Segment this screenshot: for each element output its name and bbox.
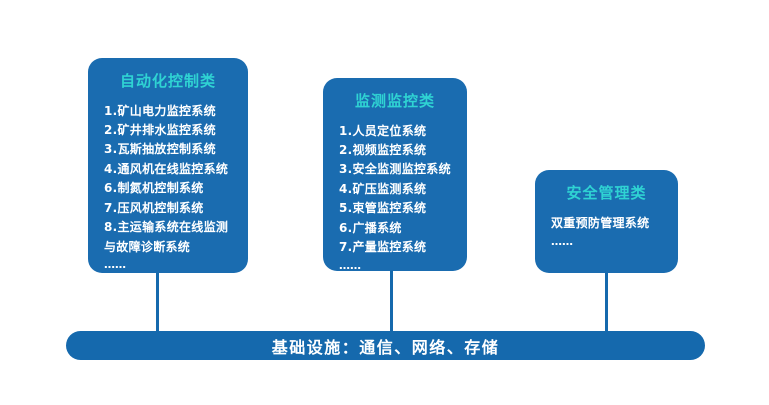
card-note-ellipsis: …… [551, 233, 662, 251]
card-safety-management[interactable]: 安全管理类 双重预防管理系统 …… [535, 170, 678, 273]
connector-line-automation [156, 271, 159, 333]
list-item: 5.束管监控系统 [339, 199, 451, 218]
card-list-monitoring-surveillance: 1.人员定位系统 2.视频监控系统 3.安全监测监控系统 4.矿压监测系统 5.… [339, 122, 451, 275]
list-item: 2.矿井排水监控系统 [104, 121, 232, 140]
list-item: 4.矿压监测系统 [339, 180, 451, 199]
list-item: 2.视频监控系统 [339, 141, 451, 160]
card-title-automation-control: 自动化控制类 [104, 72, 232, 92]
list-item: 7.压风机控制系统 [104, 199, 232, 218]
card-title-safety-management: 安全管理类 [551, 184, 662, 204]
list-item: 6.广播系统 [339, 219, 451, 238]
list-item: 6.制氮机控制系统 [104, 179, 232, 198]
card-monitoring-surveillance[interactable]: 监测监控类 1.人员定位系统 2.视频监控系统 3.安全监测监控系统 4.矿压监… [323, 78, 467, 271]
list-item: 3.安全监测监控系统 [339, 160, 451, 179]
card-list-automation-control: 1.矿山电力监控系统 2.矿井排水监控系统 3.瓦斯抽放控制系统 4.通风机在线… [104, 102, 232, 274]
list-item: 1.矿山电力监控系统 [104, 102, 232, 121]
list-item-ellipsis: …… [339, 258, 451, 275]
list-item: 1.人员定位系统 [339, 122, 451, 141]
card-title-monitoring-surveillance: 监测监控类 [339, 92, 451, 112]
infrastructure-label: 基础设施：通信、网络、存储 [272, 334, 500, 358]
system-architecture-diagram: 自动化控制类 1.矿山电力监控系统 2.矿井排水监控系统 3.瓦斯抽放控制系统 … [0, 0, 769, 405]
list-item-ellipsis: …… [104, 257, 232, 274]
list-item: 7.产量监控系统 [339, 238, 451, 257]
list-item: 3.瓦斯抽放控制系统 [104, 140, 232, 159]
card-note-safety-management: 双重预防管理系统 [551, 214, 662, 233]
connector-line-monitoring [390, 269, 393, 333]
list-item: 4.通风机在线监控系统 [104, 160, 232, 179]
list-item: 与故障诊断系统 [104, 238, 232, 257]
card-automation-control[interactable]: 自动化控制类 1.矿山电力监控系统 2.矿井排水监控系统 3.瓦斯抽放控制系统 … [88, 58, 248, 273]
connector-line-safety [605, 271, 608, 333]
infrastructure-bar[interactable]: 基础设施：通信、网络、存储 [66, 331, 705, 360]
list-item: 8.主运输系统在线监测 [104, 218, 232, 237]
